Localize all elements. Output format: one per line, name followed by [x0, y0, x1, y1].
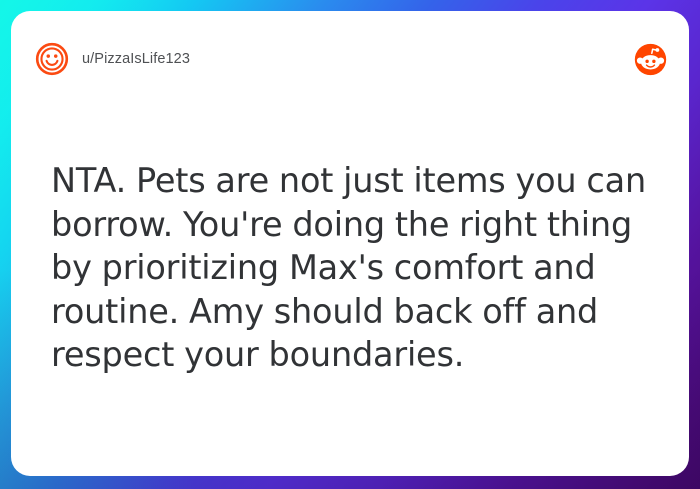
comment-header: u/PizzaIsLife123	[11, 11, 689, 107]
reddit-snoo-icon	[634, 43, 667, 76]
screenshot-root: u/PizzaIsLife123	[0, 0, 700, 489]
smiley-face-avatar-icon	[35, 42, 69, 76]
reddit-comment-card: u/PizzaIsLife123	[11, 11, 689, 476]
comment-username[interactable]: u/PizzaIsLife123	[82, 51, 190, 67]
comment-body-text: NTA. Pets are not just items you can bor…	[51, 159, 661, 377]
